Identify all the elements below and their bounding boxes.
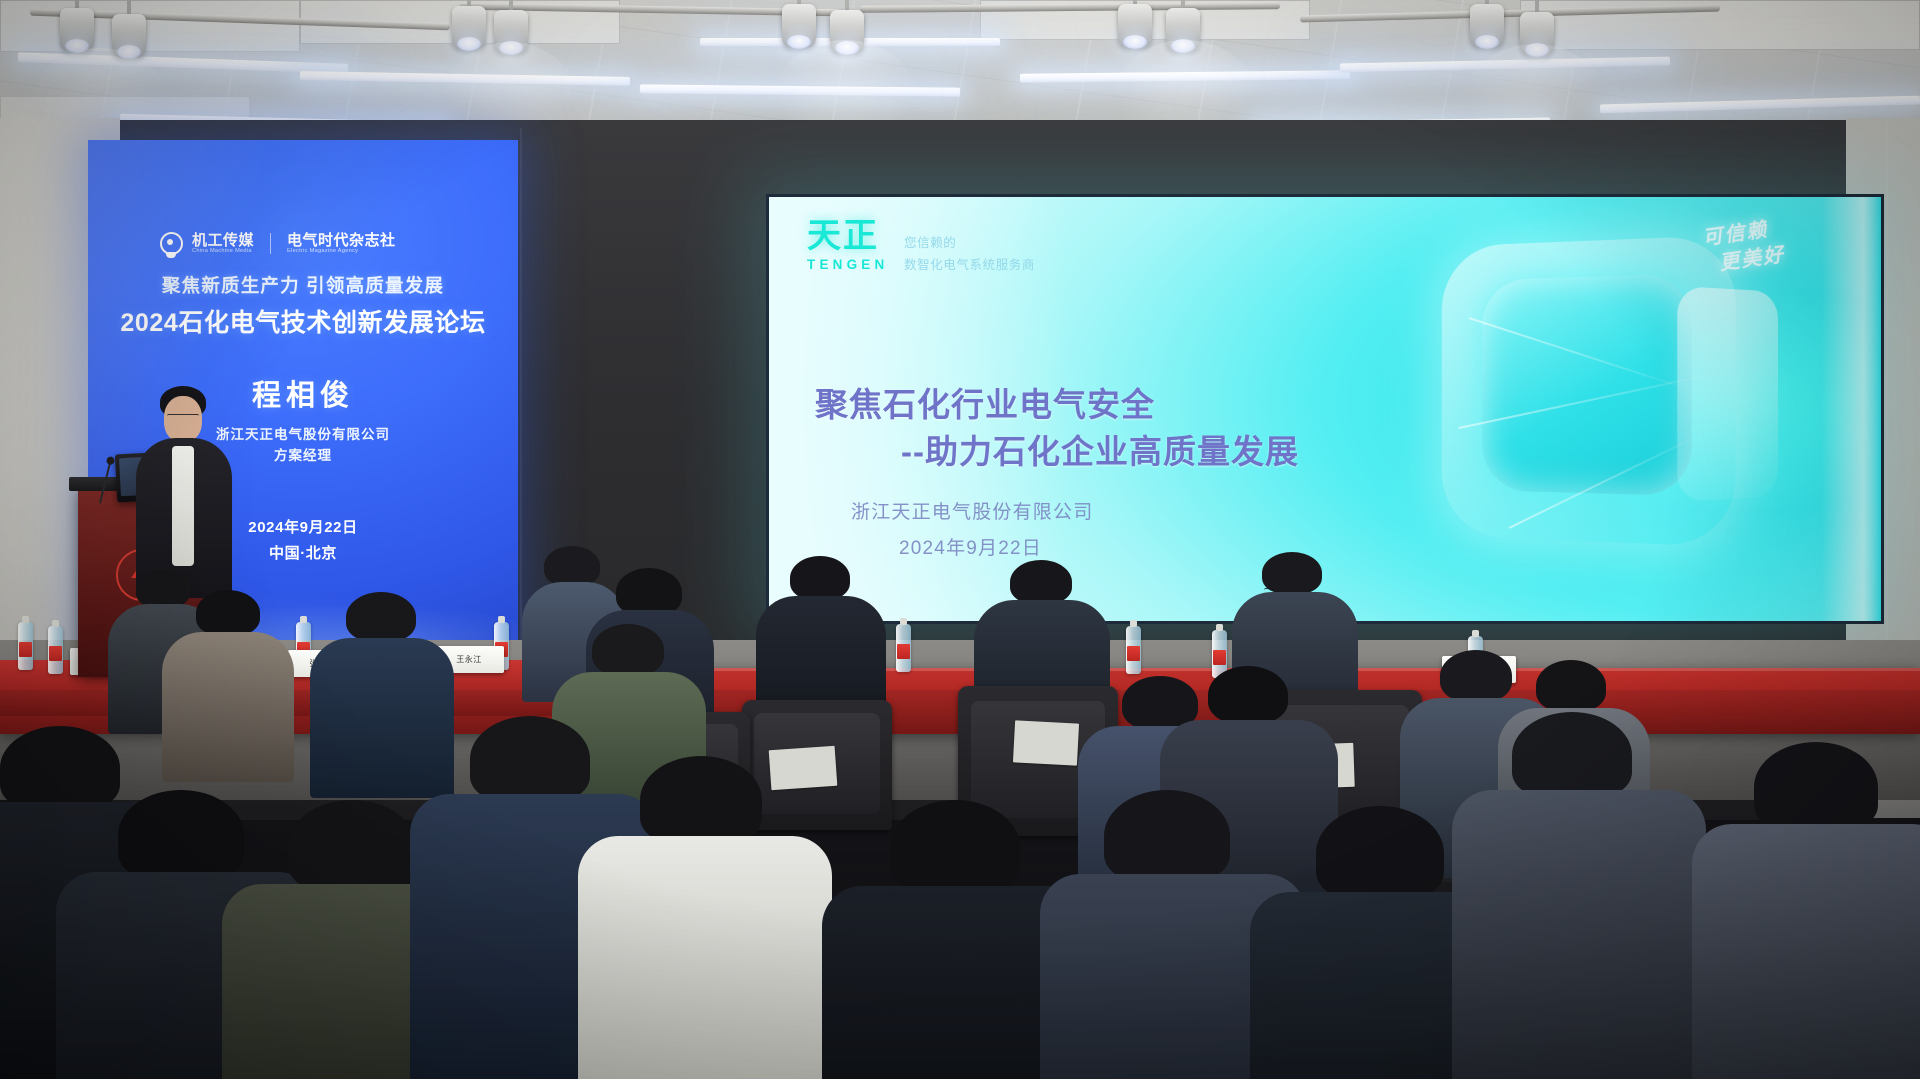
wall-seam: [520, 128, 522, 668]
speaker-company-line: 浙江天正电气股份有限公司: [88, 425, 518, 446]
ceiling-panel: [0, 0, 300, 52]
water-bottle: [1126, 626, 1141, 674]
china-machine-media-logo-icon: [160, 232, 183, 255]
water-bottle: [896, 624, 911, 672]
tengen-logo: 天正 TENGEN: [807, 219, 888, 272]
slide-title-line-1: 聚焦石化行业电气安全: [815, 386, 1155, 423]
handout-paper: [769, 746, 838, 791]
organizer-logo: 机工传媒 China Machine Media 电气时代杂志社 Electri…: [160, 232, 396, 255]
logo-divider: [270, 233, 271, 254]
conference-photo: 机工传媒 China Machine Media 电气时代杂志社 Electri…: [0, 0, 1920, 1079]
slide-subtitle: 浙江天正电气股份有限公司 2024年9月22日: [851, 495, 1093, 567]
slide-cube-face: [1677, 286, 1778, 502]
logo-primary-en: China Machine Media: [192, 248, 254, 254]
banner-speaker-name: 程相俊: [88, 372, 518, 414]
slide-title: 聚焦石化行业电气安全 --助力石化企业高质量发展: [815, 382, 1299, 476]
screen-right-edge: [1863, 197, 1881, 621]
logo-secondary-cn: 电气时代杂志社: [287, 233, 396, 249]
water-bottle: [48, 626, 63, 674]
brand-slogan: 可信赖 更美好: [1659, 211, 1820, 321]
logo-secondary-en: Electric Magazine Agency: [287, 248, 396, 254]
slide-date: 2024年9月22日: [851, 531, 1093, 567]
tengen-logo-cn: 天正: [807, 219, 888, 253]
projection-screen-frame: 天正 TENGEN 您信赖的 数智化电气系统服务商 可信赖 更美好 聚焦石化行业…: [766, 194, 1884, 624]
banner-forum-title: 2024石化电气技术创新发展论坛: [88, 303, 518, 339]
water-bottle: [18, 622, 33, 670]
projection-screen: 天正 TENGEN 您信赖的 数智化电气系统服务商 可信赖 更美好 聚焦石化行业…: [769, 197, 1881, 621]
tengen-tagline: 您信赖的 数智化电气系统服务商: [904, 233, 1035, 277]
glasses-icon: [167, 414, 199, 421]
handout-paper: [1013, 720, 1079, 765]
banner-subtitle: 聚焦新质生产力 引领高质量发展: [88, 272, 518, 298]
slide-title-line-2: --助力石化企业高质量发展: [815, 429, 1299, 476]
tengen-logo-en: TENGEN: [807, 257, 888, 272]
tagline-line-2: 数智化电气系统服务商: [904, 255, 1035, 277]
slide-company: 浙江天正电气股份有限公司: [851, 495, 1093, 531]
speaker-shirt: [172, 446, 194, 566]
tagline-line-1: 您信赖的: [904, 233, 1035, 255]
logo-primary-cn: 机工传媒: [192, 233, 254, 249]
